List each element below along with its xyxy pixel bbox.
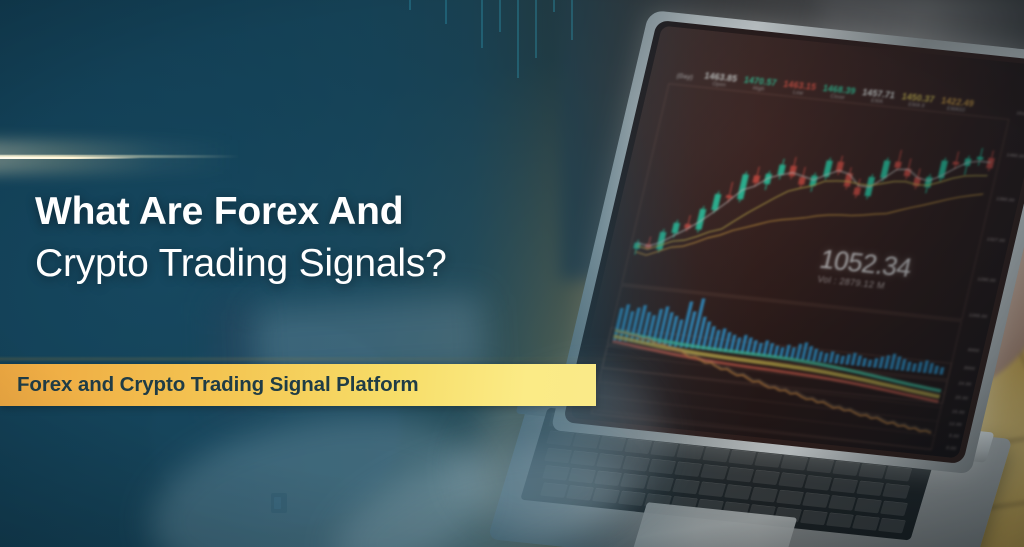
hero-banner: (Day) 1463.85 Open 1470.57 High 1463.15 … [0, 0, 1024, 547]
vignette-overlay [0, 0, 1024, 547]
